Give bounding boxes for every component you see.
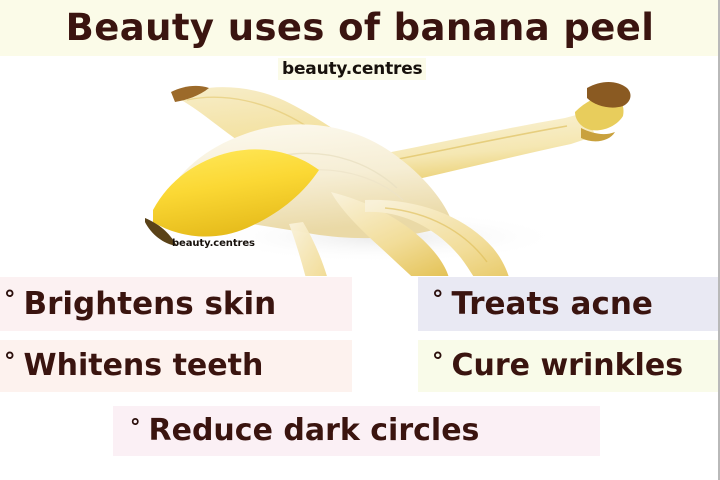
degree-bullet-icon: ° [432, 289, 444, 312]
benefit-label: Reduce dark circles [149, 416, 480, 446]
benefit-item-reduce-dark-circles: ° Reduce dark circles [113, 406, 600, 456]
benefit-item-whitens-teeth: ° Whitens teeth [0, 340, 352, 392]
degree-bullet-icon: ° [432, 351, 444, 374]
banana-photo: beauty.centres [0, 56, 720, 276]
benefit-item-brightens-skin: ° Brightens skin [0, 277, 352, 331]
degree-bullet-icon: ° [4, 289, 16, 312]
watermark-top: beauty.centres [278, 58, 426, 80]
benefit-label: Cure wrinkles [452, 351, 684, 381]
poster-canvas: Beauty uses of banana peel [0, 0, 720, 480]
watermark-middle: beauty.centres [172, 238, 255, 249]
degree-bullet-icon: ° [130, 417, 141, 438]
benefit-label: Whitens teeth [24, 351, 264, 381]
benefit-item-cure-wrinkles: ° Cure wrinkles [418, 340, 720, 392]
benefit-item-treats-acne: ° Treats acne [418, 277, 720, 331]
degree-bullet-icon: ° [4, 351, 16, 374]
page-title: Beauty uses of banana peel [66, 9, 655, 48]
benefit-label: Brightens skin [24, 289, 277, 320]
benefit-label: Treats acne [452, 289, 653, 320]
title-banner: Beauty uses of banana peel [0, 0, 720, 56]
